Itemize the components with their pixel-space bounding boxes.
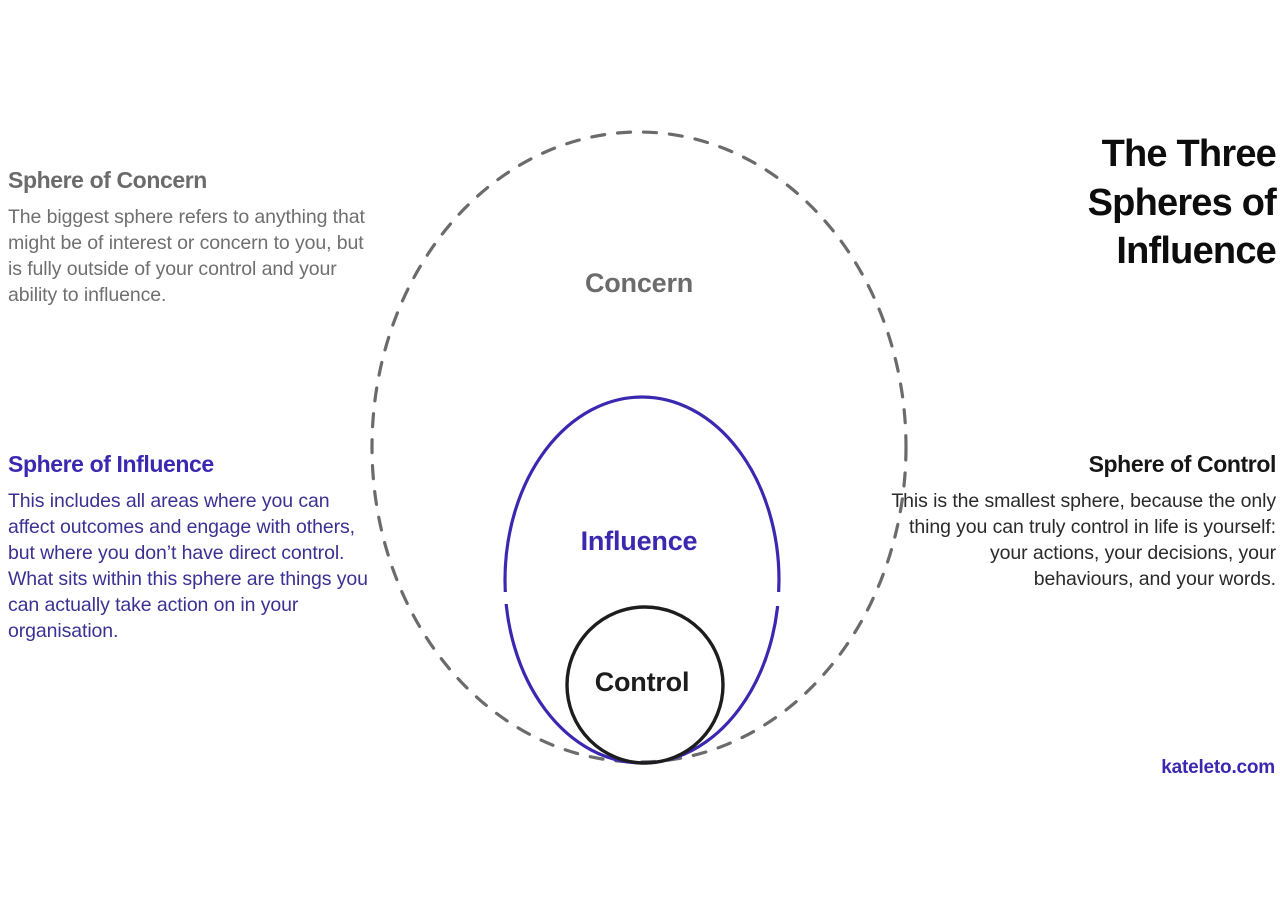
sphere-of-influence-block: Sphere of Influence This includes all ar… bbox=[8, 452, 380, 645]
infographic-canvas: Concern Influence Control Sphere of Conc… bbox=[0, 0, 1280, 905]
sphere-of-concern-description: The biggest sphere refers to anything th… bbox=[8, 205, 380, 309]
sphere-of-control-description: This is the smallest sphere, because the… bbox=[886, 489, 1276, 593]
page-title-line-3: Influence bbox=[1116, 230, 1276, 272]
sphere-of-concern-heading: Sphere of Concern bbox=[8, 168, 380, 193]
control-sphere-label: Control bbox=[2, 667, 1280, 698]
page-title-block: The Three Spheres of Influence bbox=[856, 130, 1276, 276]
page-title-line-2: Spheres of bbox=[1088, 182, 1276, 224]
page-title: The Three Spheres of Influence bbox=[856, 130, 1276, 276]
influence-ellipse-gap-left bbox=[501, 592, 510, 604]
sphere-of-concern-block: Sphere of Concern The biggest sphere ref… bbox=[8, 168, 380, 309]
influence-ellipse-gap-right bbox=[773, 592, 783, 606]
page-title-line-1: The Three bbox=[1102, 133, 1276, 175]
brand-watermark[interactable]: kateleto.com bbox=[1161, 757, 1275, 779]
influence-sphere-ellipse bbox=[505, 397, 779, 763]
sphere-of-control-block: Sphere of Control This is the smallest s… bbox=[886, 452, 1276, 593]
sphere-of-influence-heading: Sphere of Influence bbox=[8, 452, 380, 477]
sphere-of-influence-description: This includes all areas where you can af… bbox=[8, 489, 380, 645]
sphere-of-control-heading: Sphere of Control bbox=[886, 452, 1276, 477]
